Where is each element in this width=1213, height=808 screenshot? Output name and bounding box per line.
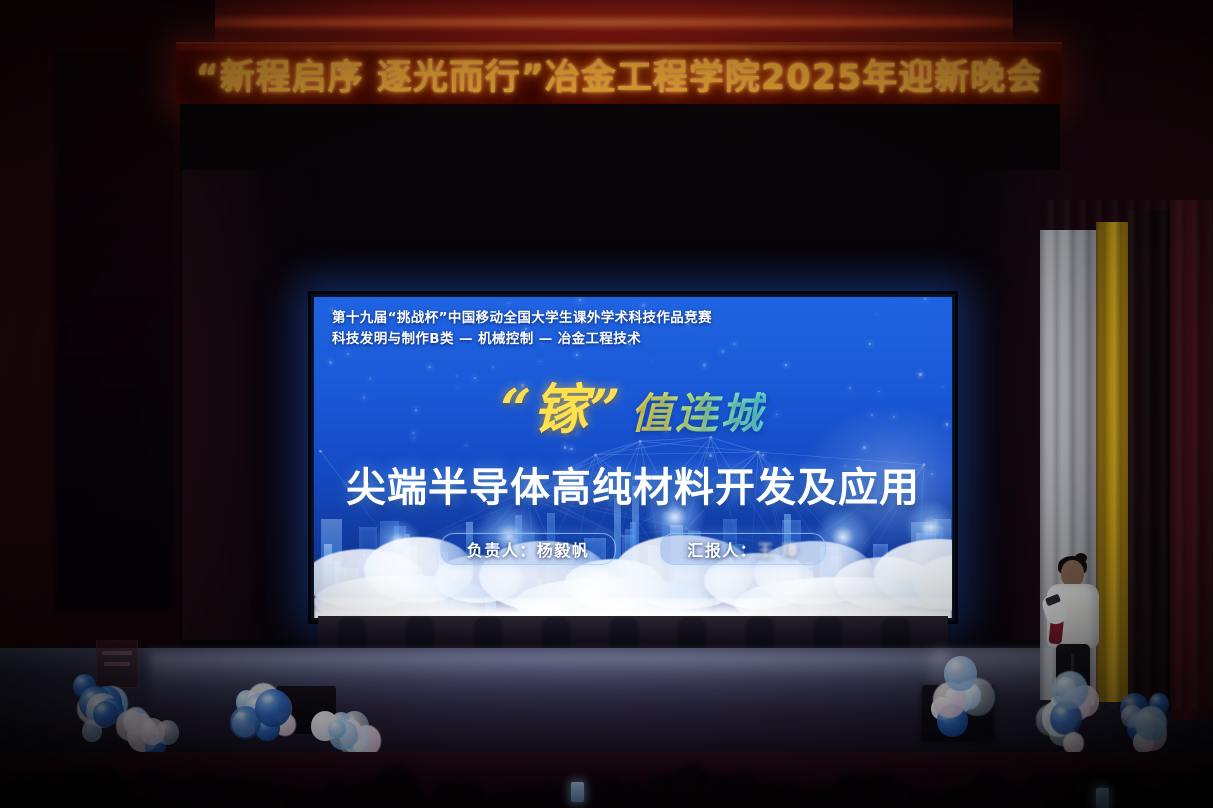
audience-head: [293, 791, 320, 808]
proscenium-left-pillar: [182, 170, 320, 640]
audience-head: [995, 786, 1023, 808]
audience-phone-screen: [571, 782, 584, 802]
ceiling-led-strip: [150, 18, 1070, 27]
audience-phone-screen: [1096, 788, 1109, 808]
audience-head: [534, 785, 564, 808]
balloon: [1052, 671, 1088, 709]
audience-head: [888, 783, 915, 808]
event-banner: “新程启序 逐光而行”冶金工程学院2025年迎新晚会: [176, 42, 1062, 104]
balloon: [93, 701, 118, 727]
credit-reporter: 汇报人：王 璋: [660, 533, 826, 565]
wall-left-panel: [55, 52, 175, 612]
balloon: [1063, 732, 1084, 754]
screen-competition-header: 第十九届“挑战杯”中国移动全国大学生课外学术科技作品竞赛 科技发明与制作B类 —…: [332, 310, 712, 352]
audience-head: [1156, 777, 1192, 808]
event-banner-text: “新程启序 逐光而行”冶金工程学院2025年迎新晚会: [196, 49, 1043, 100]
screen-project-title: 尖端半导体高纯材料开发及应用: [314, 455, 952, 513]
balloon: [1135, 706, 1167, 740]
competition-line-2: 科技发明与制作B类 — 机械控制 — 冶金工程技术: [332, 327, 712, 351]
audience-head: [615, 784, 646, 808]
wall-sign: [96, 640, 138, 688]
screen-calligraphy-title: “镓”值连城: [314, 365, 952, 444]
audience-head: [398, 786, 425, 808]
competition-line-1: 第十九届“挑战杯”中国移动全国大学生课外学术科技作品竞赛: [332, 310, 712, 327]
audience-head: [1132, 787, 1159, 808]
audience-head: [506, 787, 536, 808]
audience-silhouettes: [0, 752, 1213, 808]
calligraphy-rest-word: 值连城: [631, 389, 766, 438]
audience-head: [455, 783, 484, 808]
audience-head: [775, 785, 805, 808]
balloon: [230, 706, 261, 739]
credit-leader-label: 负责人：: [467, 541, 537, 560]
credit-reporter-label: 汇报人：: [687, 541, 757, 560]
presenter-head: [1061, 560, 1084, 587]
audience-head: [20, 777, 57, 808]
audience-head: [915, 790, 942, 808]
led-presentation-screen: 第十九届“挑战杯”中国移动全国大学生课外学术科技作品竞赛 科技发明与制作B类 —…: [314, 297, 952, 618]
balloon: [140, 718, 165, 745]
audience-head: [322, 781, 353, 808]
calligraphy-quoted-word: “镓”: [500, 377, 622, 441]
audience-head: [806, 788, 836, 808]
auditorium-scene: “新程启序 逐光而行”冶金工程学院2025年迎新晚会 第十九届“挑战杯”中国移动…: [0, 0, 1213, 808]
wall-sign-line: [102, 651, 132, 655]
credit-reporter-name: 王 璋: [757, 541, 799, 560]
credit-leader: 负责人：杨毅帆: [440, 533, 617, 565]
wall-sign-line: [104, 662, 130, 666]
balloon: [328, 720, 345, 739]
screen-credits-row: 负责人：杨毅帆 汇报人：王 璋: [314, 533, 952, 565]
curtain-red: [1170, 200, 1213, 720]
screen-clouds: [314, 515, 952, 618]
credit-leader-name: 杨毅帆: [537, 541, 590, 560]
